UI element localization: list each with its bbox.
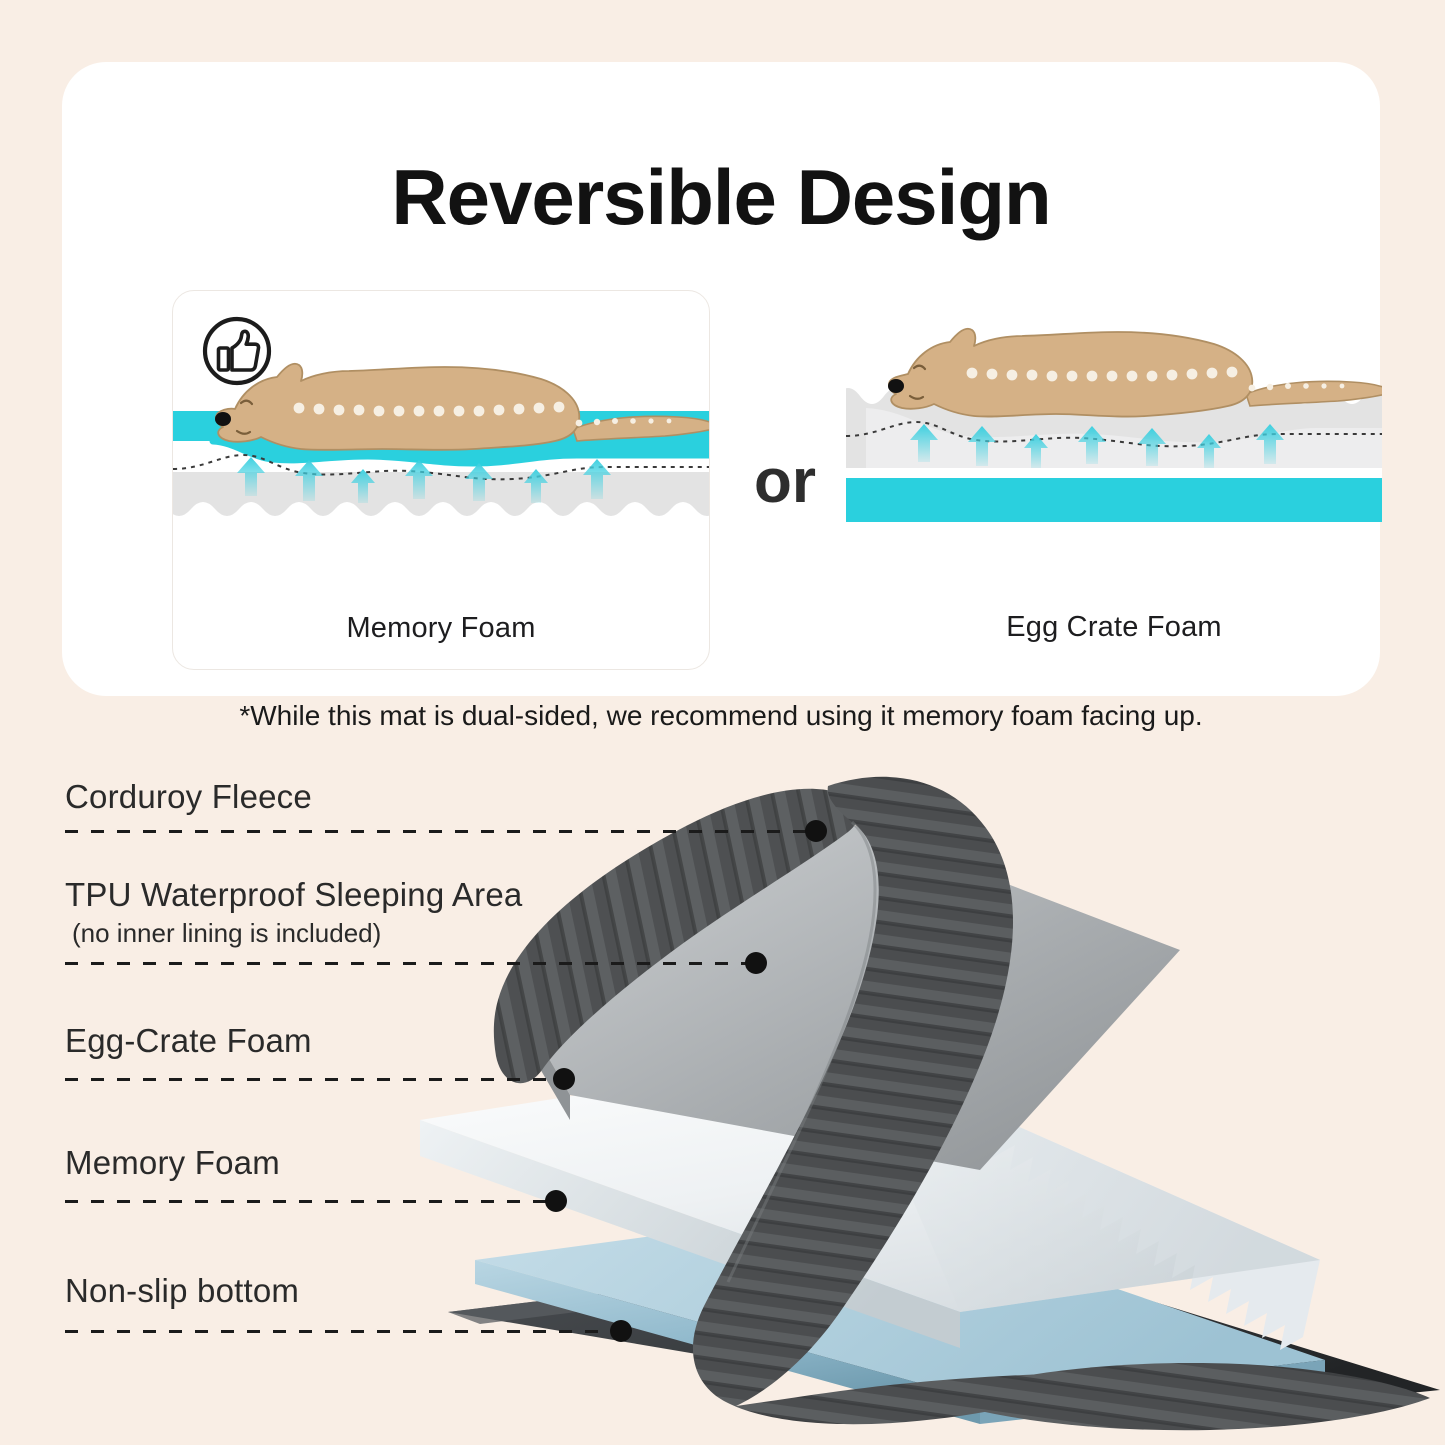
page-title: Reversible Design: [62, 158, 1380, 236]
layer-label-non-slip-bottom: Non-slip bottom: [65, 1272, 299, 1310]
layer-label-corduroy-fleece: Corduroy Fleece: [65, 778, 312, 816]
leader-line-5: [65, 1330, 619, 1333]
leader-line-1: [65, 830, 813, 833]
illustration-memory-foam-up: [173, 291, 709, 591]
panel-memory-foam: Memory Foam: [172, 290, 710, 670]
layer-sublabel-tpu-waterproof: (no inner lining is included): [72, 918, 381, 949]
leader-line-3: [65, 1078, 561, 1081]
layers-diagram: Corduroy Fleece TPU Waterproof Sleeping …: [0, 700, 1445, 1445]
reversible-design-card: Reversible Design: [62, 62, 1380, 696]
dog-illustration: [215, 364, 709, 450]
panel-egg-crate-foam: Egg Crate Foam: [846, 290, 1382, 668]
infographic-root: Reversible Design: [0, 0, 1445, 1445]
illustration-egg-crate-up: [846, 290, 1382, 590]
leader-dot-1: [805, 820, 827, 842]
leader-dot-5: [610, 1320, 632, 1342]
separator-or: or: [727, 451, 843, 513]
leader-line-4: [65, 1200, 553, 1203]
product-photo: [420, 700, 1445, 1445]
leader-dot-3: [553, 1068, 575, 1090]
leader-dot-4: [545, 1190, 567, 1212]
panel-caption-egg-crate-foam: Egg Crate Foam: [846, 611, 1382, 644]
leader-dot-2: [745, 952, 767, 974]
panel-caption-memory-foam: Memory Foam: [173, 612, 709, 645]
layer-label-memory-foam: Memory Foam: [65, 1144, 280, 1182]
layer-label-egg-crate-foam: Egg-Crate Foam: [65, 1022, 312, 1060]
dog-illustration: [888, 329, 1382, 417]
leader-line-2: [65, 962, 753, 965]
layer-label-tpu-waterproof: TPU Waterproof Sleeping Area: [65, 876, 522, 914]
